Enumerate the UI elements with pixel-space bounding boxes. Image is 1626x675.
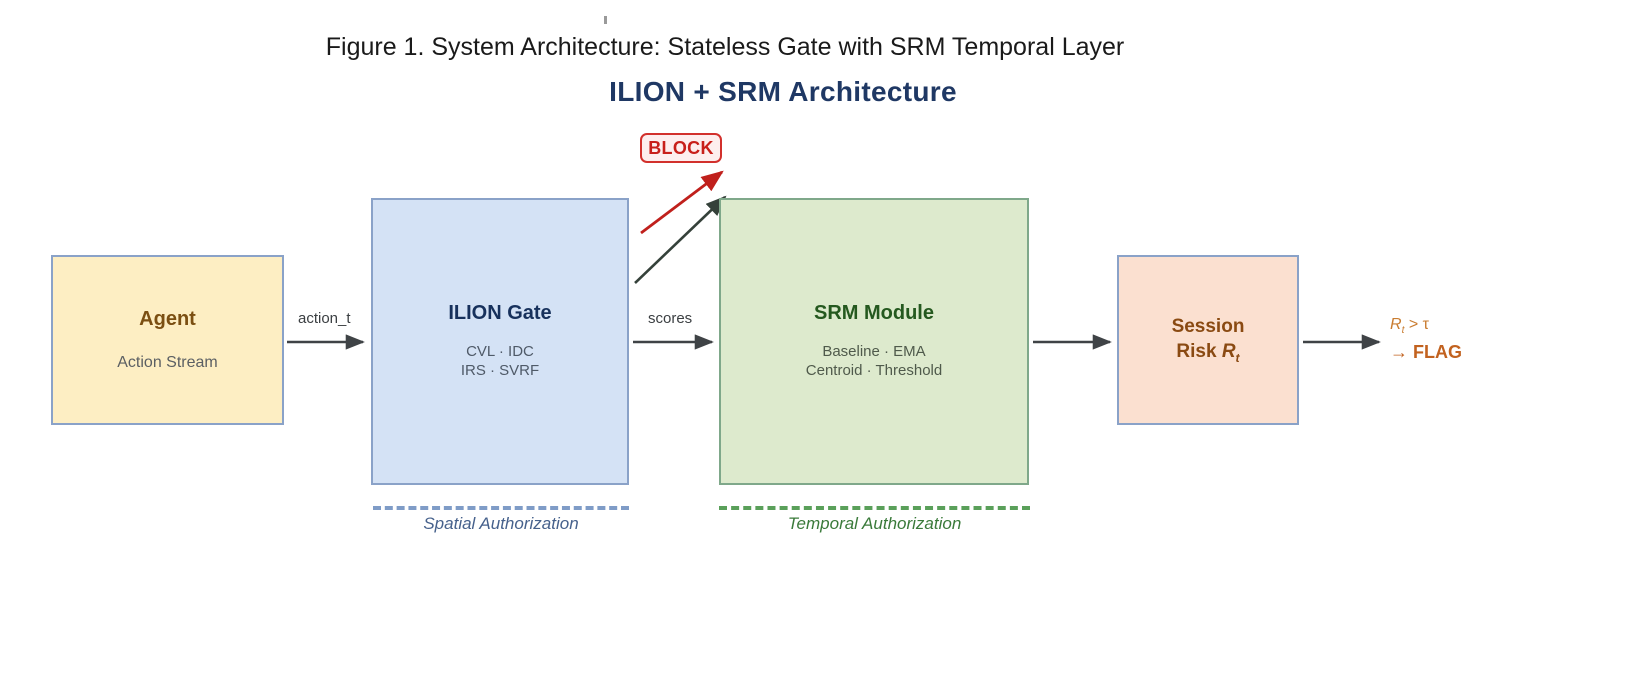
page-speck-artifact — [604, 16, 607, 24]
node-ilion-gate-title: ILION Gate — [448, 302, 551, 325]
node-srm-module[interactable]: SRM Module Baseline · EMA Centroid · Thr… — [719, 198, 1029, 485]
node-srm-module-sub-line-2: Centroid · Threshold — [806, 362, 942, 381]
node-session-risk-line-1: Session — [1172, 314, 1245, 340]
outcome-flag-label: Rt > τ → FLAG — [1390, 313, 1462, 365]
node-srm-module-title: SRM Module — [814, 302, 934, 325]
node-agent[interactable]: Agent Action Stream — [51, 255, 284, 425]
rail-spatial-label: Spatial Authorization — [373, 514, 629, 534]
outcome-flag-text: → FLAG — [1390, 339, 1462, 365]
edge-label-scores: scores — [648, 310, 692, 327]
node-srm-module-sub-line-1: Baseline · EMA — [806, 343, 942, 362]
node-agent-title: Agent — [139, 308, 196, 331]
outcome-condition-variable-letter: R — [1390, 316, 1402, 333]
rail-spatial-divider — [373, 506, 629, 510]
node-ilion-gate-sub-line-1: CVL · IDC — [461, 343, 539, 362]
node-ilion-gate-subtitle: CVL · IDC IRS · SVRF — [461, 343, 539, 381]
node-ilion-gate[interactable]: ILION Gate CVL · IDC IRS · SVRF — [371, 198, 629, 485]
node-session-risk-variable-subscript: t — [1236, 351, 1240, 365]
rail-temporal-label: Temporal Authorization — [719, 514, 1030, 534]
diagram-canvas: Figure 1. System Architecture: Stateless… — [0, 0, 1626, 675]
outcome-condition: Rt > τ — [1390, 313, 1462, 339]
block-badge[interactable]: BLOCK — [640, 133, 722, 163]
node-session-risk-line-2: Risk Rt — [1172, 339, 1245, 366]
figure-caption: Figure 1. System Architecture: Stateless… — [0, 33, 1450, 62]
rail-temporal-divider — [719, 506, 1030, 510]
edge-label-action: action_t — [298, 310, 351, 327]
node-session-risk-variable-letter: R — [1222, 341, 1236, 362]
outcome-condition-rest: > τ — [1404, 316, 1429, 333]
outcome-condition-variable: Rt — [1390, 316, 1404, 333]
node-ilion-gate-sub-line-2: IRS · SVRF — [461, 362, 539, 381]
arrow-ilion-diagonal-pass — [635, 197, 725, 283]
node-session-risk-line-2-text: Risk — [1176, 341, 1221, 362]
diagram-title: ILION + SRM Architecture — [0, 76, 1566, 108]
arrow-block-denied — [641, 172, 722, 233]
node-srm-module-subtitle: Baseline · EMA Centroid · Threshold — [806, 343, 942, 381]
node-session-risk-title: Session Risk Rt — [1172, 314, 1245, 367]
node-session-risk-variable: Rt — [1222, 341, 1240, 362]
node-session-risk[interactable]: Session Risk Rt — [1117, 255, 1299, 425]
node-agent-subtitle: Action Stream — [117, 353, 217, 373]
